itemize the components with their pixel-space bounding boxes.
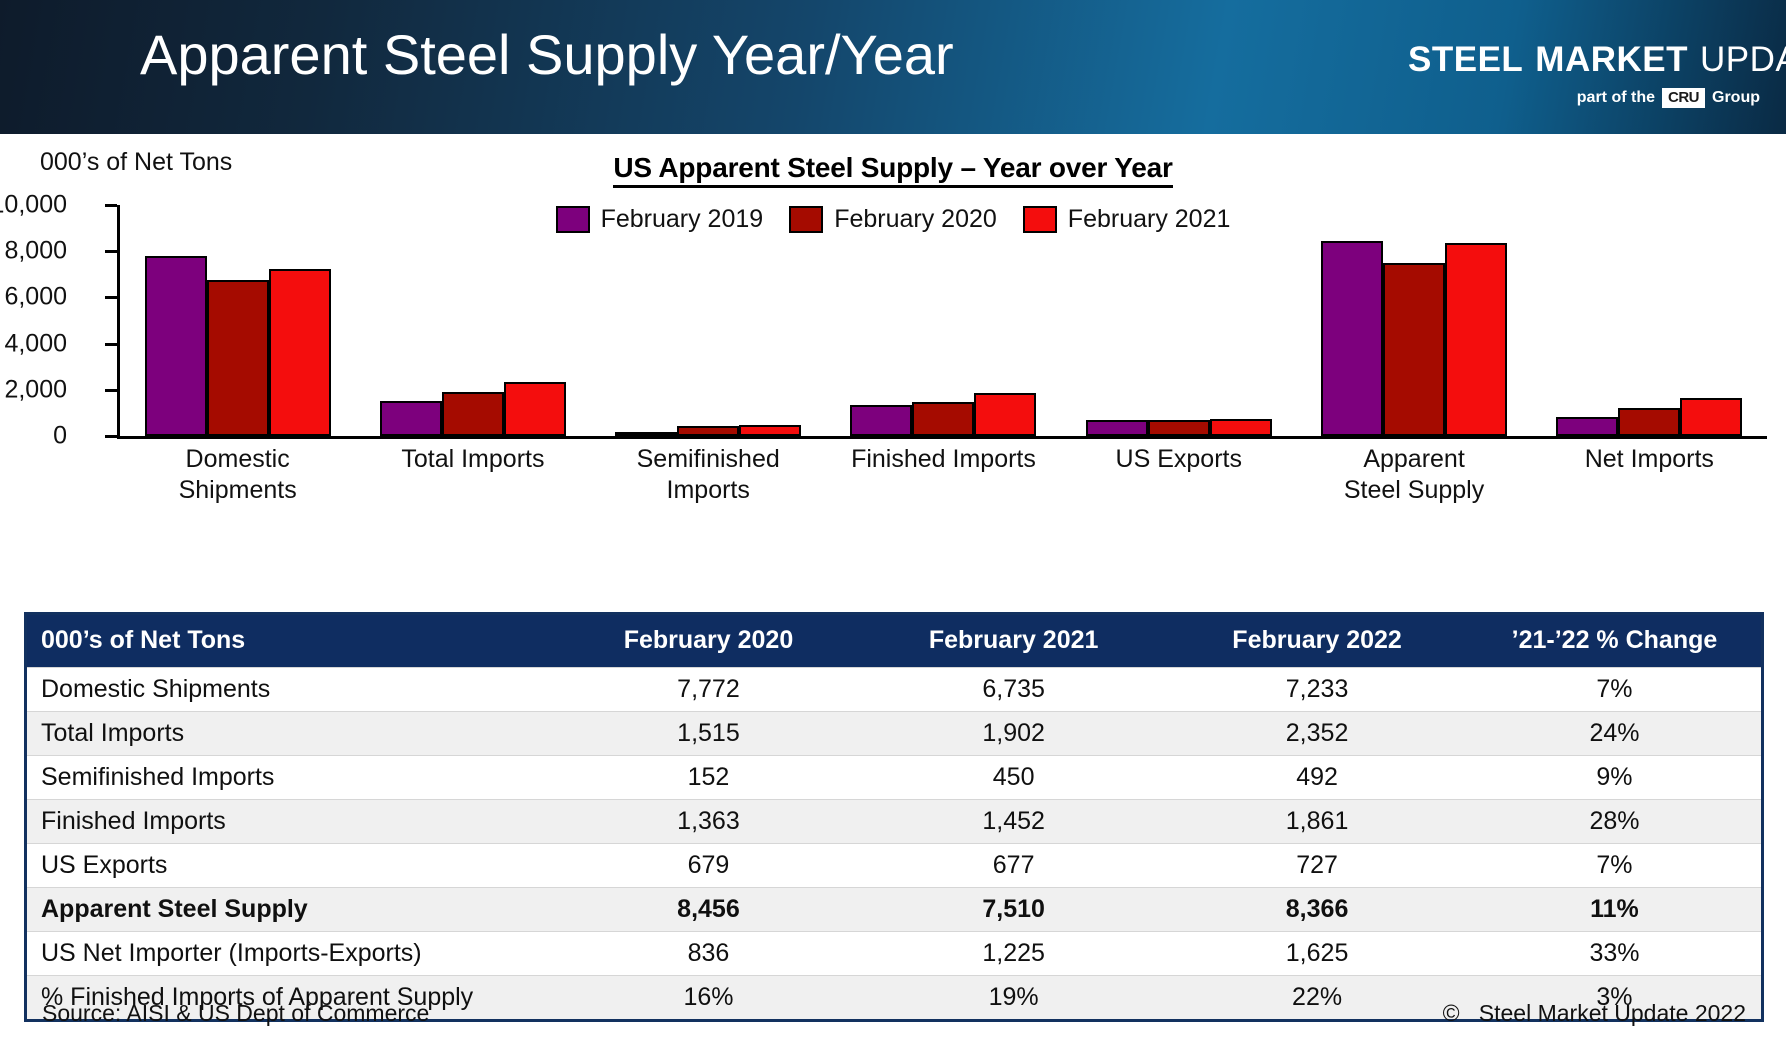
chart-plot-area: 10,0008,0006,0004,0002,0000	[117, 205, 1767, 438]
x-axis-label: ApparentSteel Supply	[1296, 444, 1531, 505]
y-tick-label: 4,000	[0, 329, 67, 358]
bar[interactable]	[145, 256, 207, 436]
bar[interactable]	[677, 426, 739, 436]
table-cell: 450	[861, 756, 1166, 800]
x-axis-label: Finished Imports	[826, 444, 1061, 505]
table-cell: 1,363	[556, 800, 861, 844]
table-row: Semifinished Imports1524504929%	[27, 756, 1761, 800]
table-column-header[interactable]: 000’s of Net Tons	[27, 615, 556, 668]
table-cell: 7,233	[1166, 668, 1468, 712]
y-tick-label: 8,000	[0, 237, 67, 266]
bar[interactable]	[739, 425, 801, 436]
table-cell: 6,735	[861, 668, 1166, 712]
bar[interactable]	[1445, 243, 1507, 436]
table-cell: 11%	[1468, 888, 1761, 932]
table-cell: 33%	[1468, 932, 1761, 976]
table-cell: 152	[556, 756, 861, 800]
logo-tagline: part of the CRU Group	[1577, 88, 1760, 108]
table-cell: 16%	[556, 976, 861, 1020]
table-cell: 1,515	[556, 712, 861, 756]
bar[interactable]	[615, 432, 677, 436]
table-cell: 492	[1166, 756, 1468, 800]
bar-group	[1061, 205, 1296, 436]
logo-tagline-prefix: part of the	[1577, 89, 1655, 107]
bar-group	[1296, 205, 1531, 436]
table-row-label: US Net Importer (Imports-Exports)	[27, 932, 556, 976]
bar[interactable]	[207, 280, 269, 436]
page-title: Apparent Steel Supply Year/Year	[140, 22, 954, 87]
bar-group	[120, 205, 355, 436]
table-cell: 836	[556, 932, 861, 976]
bar-groups	[120, 205, 1767, 436]
table-column-header[interactable]: February 2021	[861, 615, 1166, 668]
data-table-wrapper: 000’s of Net TonsFebruary 2020February 2…	[24, 612, 1764, 1022]
bar[interactable]	[1556, 417, 1618, 436]
x-axis-label: Total Imports	[355, 444, 590, 505]
footer-source: Source: AISI & US Dept of Commerce	[42, 1000, 429, 1027]
bar[interactable]	[1148, 420, 1210, 436]
table-cell: 1,625	[1166, 932, 1468, 976]
table-cell: 22%	[1166, 976, 1468, 1020]
table-column-header[interactable]: ’21-’22 % Change	[1468, 615, 1761, 668]
x-axis-label: Net Imports	[1532, 444, 1767, 505]
table-header-row: 000’s of Net TonsFebruary 2020February 2…	[27, 615, 1761, 668]
bar-group	[591, 205, 826, 436]
table-cell: 7%	[1468, 844, 1761, 888]
table-cell: 9%	[1468, 756, 1761, 800]
table-cell: 19%	[861, 976, 1166, 1020]
table-cell: 1,902	[861, 712, 1166, 756]
bar-group	[1532, 205, 1767, 436]
table-column-header[interactable]: February 2020	[556, 615, 861, 668]
cru-badge: CRU	[1662, 88, 1705, 108]
table-cell: 677	[861, 844, 1166, 888]
bar[interactable]	[974, 393, 1036, 436]
x-axis-label: US Exports	[1061, 444, 1296, 505]
table-row: Apparent Steel Supply8,4567,5108,36611%	[27, 888, 1761, 932]
table-row-label: US Exports	[27, 844, 556, 888]
table-column-header[interactable]: February 2022	[1166, 615, 1468, 668]
y-tick-mark	[105, 250, 117, 253]
y-tick-label: 6,000	[0, 283, 67, 312]
y-tick-mark	[105, 204, 117, 207]
y-tick-mark	[105, 296, 117, 299]
bar[interactable]	[850, 405, 912, 436]
bar-group	[826, 205, 1061, 436]
bar[interactable]	[1383, 263, 1445, 436]
table-row: US Exports6796777277%	[27, 844, 1761, 888]
x-axis-line	[117, 436, 1767, 439]
table-cell: 1,861	[1166, 800, 1468, 844]
table-row: US Net Importer (Imports-Exports)8361,22…	[27, 932, 1761, 976]
table-body: Domestic Shipments7,7726,7357,2337%Total…	[27, 668, 1761, 1020]
bar[interactable]	[1210, 419, 1272, 436]
table-cell: 24%	[1468, 712, 1761, 756]
table-cell: 7,510	[861, 888, 1166, 932]
bar-group	[355, 205, 590, 436]
table-cell: 28%	[1468, 800, 1761, 844]
logo-market: MARKET	[1535, 40, 1688, 79]
x-axis-label: DomesticShipments	[120, 444, 355, 505]
bar[interactable]	[1618, 408, 1680, 436]
y-tick-label: 10,000	[0, 191, 67, 220]
header-banner: Apparent Steel Supply Year/Year STEELMAR…	[0, 0, 1786, 134]
logo-wordmark: STEELMARKETUPDATE	[1408, 40, 1786, 80]
table-cell: 7,772	[556, 668, 861, 712]
data-table: 000’s of Net TonsFebruary 2020February 2…	[27, 615, 1761, 1019]
y-tick-mark	[105, 435, 117, 438]
table-cell: 679	[556, 844, 861, 888]
y-tick-mark	[105, 389, 117, 392]
table-cell: 1,452	[861, 800, 1166, 844]
table-row-label: Total Imports	[27, 712, 556, 756]
table-row: Total Imports1,5151,9022,35224%	[27, 712, 1761, 756]
table-row: Domestic Shipments7,7726,7357,2337%	[27, 668, 1761, 712]
chart-title-text: US Apparent Steel Supply – Year over Yea…	[613, 152, 1172, 188]
bar[interactable]	[504, 382, 566, 436]
table-row: Finished Imports1,3631,4521,86128%	[27, 800, 1761, 844]
y-tick-label: 0	[0, 422, 67, 451]
table-cell: 2,352	[1166, 712, 1468, 756]
bar[interactable]	[912, 402, 974, 436]
x-axis-label: SemifinishedImports	[591, 444, 826, 505]
bar[interactable]	[269, 269, 331, 436]
bar[interactable]	[1086, 420, 1148, 436]
footer-copyright: © Steel Market Update 2022	[1443, 1000, 1746, 1027]
smu-logo: STEELMARKETUPDATE part of the CRU Group	[1348, 2, 1768, 128]
table-cell: 727	[1166, 844, 1468, 888]
table-cell: 8,456	[556, 888, 861, 932]
table-row-label: Finished Imports	[27, 800, 556, 844]
table-cell: 7%	[1468, 668, 1761, 712]
table-row-label: Domestic Shipments	[27, 668, 556, 712]
table-head: 000’s of Net TonsFebruary 2020February 2…	[27, 615, 1761, 668]
y-tick-label: 2,000	[0, 375, 67, 404]
logo-tagline-suffix: Group	[1712, 89, 1760, 107]
y-tick-mark	[105, 343, 117, 346]
bar[interactable]	[1321, 241, 1383, 436]
x-axis-labels: DomesticShipmentsTotal ImportsSemifinish…	[120, 444, 1767, 505]
bar[interactable]	[1680, 398, 1742, 436]
logo-steel: STEEL	[1408, 40, 1523, 79]
slide-root: Apparent Steel Supply Year/Year STEELMAR…	[0, 0, 1786, 1048]
bar[interactable]	[442, 392, 504, 436]
logo-update: UPDATE	[1700, 40, 1786, 79]
table-row-label: Semifinished Imports	[27, 756, 556, 800]
bar[interactable]	[380, 401, 442, 436]
chart-title: US Apparent Steel Supply – Year over Yea…	[0, 152, 1786, 184]
table-cell: 1,225	[861, 932, 1166, 976]
table-cell: 8,366	[1166, 888, 1468, 932]
table-row-label: Apparent Steel Supply	[27, 888, 556, 932]
